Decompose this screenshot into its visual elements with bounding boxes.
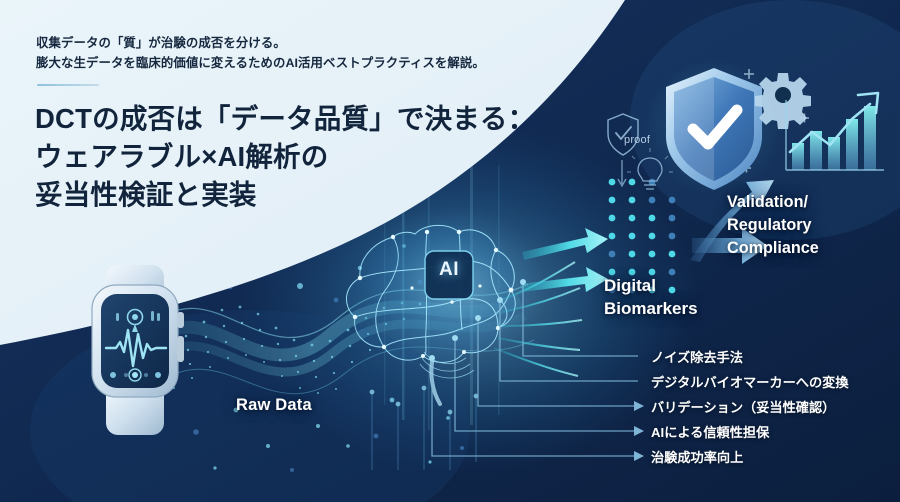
page-title: DCTの成否は「データ品質」で決まる： ウェアラブル×AI解析の 妥当性検証と実… bbox=[35, 100, 575, 214]
title-divider bbox=[37, 84, 99, 86]
stage-label-validation: Validation/ Regulatory Compliance bbox=[727, 191, 819, 260]
validation-line-1: Validation/ bbox=[727, 191, 819, 214]
hero-subtitle-line-1: 収集データの「質」が治験の成否を分ける。 bbox=[36, 33, 556, 53]
list-item: バリデーション（妥当性確認） bbox=[651, 394, 849, 419]
list-item-label: AIによる信頼性担保 bbox=[651, 422, 769, 441]
validation-line-2: Regulatory bbox=[727, 214, 819, 237]
list-item-label: ノイズ除去手法 bbox=[651, 347, 743, 366]
list-item-label: バリデーション（妥当性確認） bbox=[651, 397, 835, 416]
bullet-list: ノイズ除去手法 デジタルバイオマーカーへの変換 バリデーション（妥当性確認） A… bbox=[651, 344, 849, 469]
page-title-line-1: DCTの成否は「データ品質」で決まる： bbox=[35, 100, 575, 138]
list-item-label: デジタルバイオマーカーへの変換 bbox=[651, 372, 849, 391]
list-item: ノイズ除去手法 bbox=[651, 344, 849, 369]
digital-biomarkers-line-2: Biomarkers bbox=[604, 297, 698, 320]
gear-icon bbox=[755, 73, 811, 129]
hero-subtitle-line-2: 膨大な生データを臨床的価値に変えるためのAI活用ベストプラクティスを解説。 bbox=[36, 53, 556, 73]
hero-banner: 収集データの「質」が治験の成否を分ける。 膨大な生データを臨床的価値に変えるため… bbox=[0, 0, 900, 502]
validation-line-3: Compliance bbox=[727, 237, 819, 260]
list-item-label: 治験成功率向上 bbox=[651, 447, 743, 466]
list-item: デジタルバイオマーカーへの変換 bbox=[651, 369, 849, 394]
list-item: AIによる信頼性担保 bbox=[651, 419, 849, 444]
hero-subtitle: 収集データの「質」が治験の成否を分ける。 膨大な生データを臨床的価値に変えるため… bbox=[36, 33, 556, 73]
stage-label-digital-biomarkers: Digital Biomarkers bbox=[604, 274, 698, 320]
ai-badge-label: AI bbox=[430, 259, 468, 281]
proof-label: proof bbox=[624, 134, 650, 146]
stage-label-raw-data: Raw Data bbox=[236, 396, 312, 415]
page-title-line-3: 妥当性検証と実装 bbox=[35, 176, 575, 214]
shield-check-icon bbox=[644, 59, 784, 195]
digital-biomarkers-line-1: Digital bbox=[604, 274, 698, 297]
list-item: 治験成功率向上 bbox=[651, 444, 849, 469]
page-title-line-2: ウェアラブル×AI解析の bbox=[35, 138, 575, 176]
